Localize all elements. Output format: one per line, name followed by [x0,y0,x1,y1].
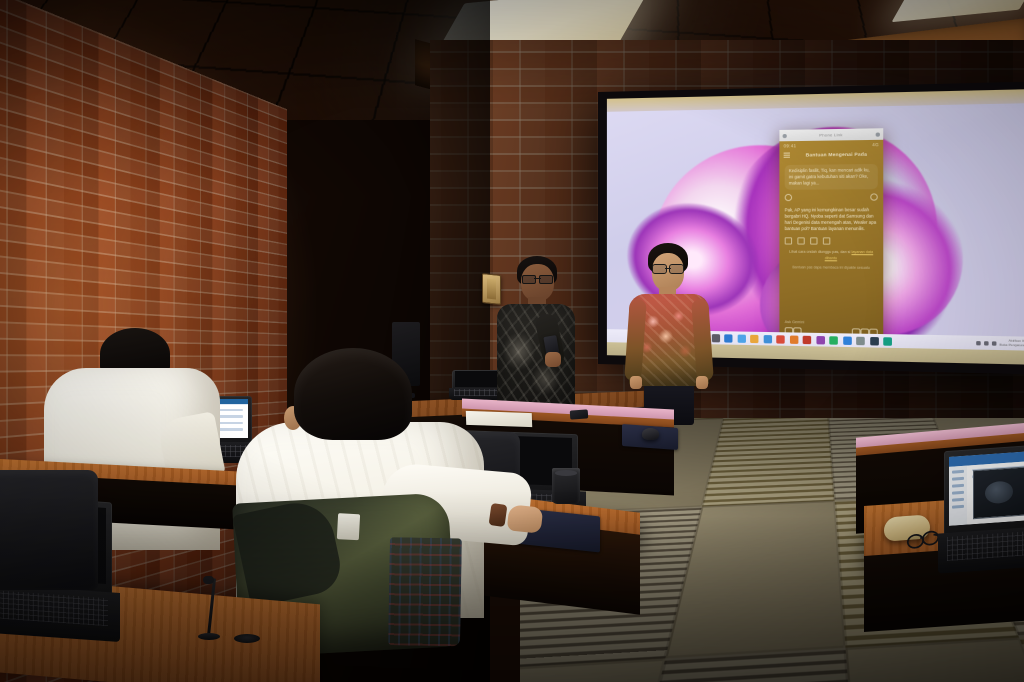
battery-icon[interactable] [992,341,997,345]
disclaimer-text: Lihat cara ondah diunggu pas, dan si [789,250,850,254]
laptop-keyboard[interactable] [947,531,1024,561]
disclaimer-note: Lihat cara ondah diunggu pas, dan si lay… [785,250,878,261]
presenter-red-batik [626,243,712,423]
eyeglasses-icon [652,264,684,272]
laptop-base [0,583,120,642]
activate-windows-notice: Aktifkan Windows Buka Pengaturan untuk [999,339,1024,348]
taskbar-icon-7[interactable] [790,335,798,343]
window-close-icon[interactable] [876,132,880,136]
chat-message-assistant: Pak, AP yang ini kemungkinan besar sudah… [785,207,878,233]
app-title: Bantuan Mengenai Pada [794,151,879,157]
assistant-action-icons[interactable] [779,232,883,245]
presenter-b-hand-right [696,376,708,389]
microphone-gooseneck [207,578,216,636]
taskbar-icon-13[interactable] [870,336,879,345]
eyeglasses-icon [522,275,553,282]
window-menu-icon[interactable] [783,133,787,137]
taskbar-icon-12[interactable] [856,336,865,345]
taskbar-icon-2[interactable] [724,334,732,342]
copy-icon[interactable] [785,238,792,245]
taskbar-icon-9[interactable] [816,335,825,343]
laptop-right-desk[interactable] [944,445,1024,571]
jacket-care-tag [337,513,360,540]
computer-mouse-podium[interactable] [642,428,659,440]
laptop-screen-ui [949,451,1024,526]
office-chair-foreground[interactable] [0,470,98,590]
status-network: 4G [872,142,879,147]
thumbs-up-icon[interactable] [785,194,792,201]
chat-message-user: Kedisiplin fasilit, Tiq, kan mencari adi… [785,164,878,190]
message-action-icons[interactable] [779,189,883,201]
taskbar-icon-4[interactable] [750,334,758,342]
phone-link-window[interactable]: Phone Link 09:41 4G Bantuan Mengenai Pad… [779,128,883,337]
wristwatch [489,503,508,527]
app-header: Bantuan Mengenai Pada [779,147,883,160]
refresh-icon[interactable] [810,238,817,245]
microphone-base [198,633,220,640]
taskbar-icon-3[interactable] [737,334,745,342]
disclaimer-note-2: Bantuan pas dapa membaca ini dipakte ses… [785,265,878,270]
smartphone-on-desk[interactable] [570,409,589,419]
participant-front-hair [294,348,412,440]
wifi-icon[interactable] [976,341,980,345]
laptop-base [938,526,1024,574]
hamburger-menu-icon[interactable] [784,153,790,158]
system-tray[interactable]: Aktifkan Windows Buka Pengaturan untuk [976,339,1024,349]
taskbar-icon-1[interactable] [711,334,719,342]
laptop-lid [944,445,1024,535]
presentation-room-photo: Phone Link 09:41 4G Bantuan Mengenai Pad… [0,0,1024,682]
share-icon[interactable] [797,238,804,245]
laptop-keyboard[interactable] [0,589,108,626]
volume-icon[interactable] [984,341,989,345]
app-sidebar [949,465,967,526]
taskbar-icon-6[interactable] [776,335,784,343]
gooseneck-microphone-front[interactable] [198,570,222,640]
taskbar-icon-5[interactable] [763,335,771,343]
taskbar-icon-11[interactable] [843,336,852,345]
participant-front-hand [507,504,544,533]
taskbar-icon-10[interactable] [829,336,838,344]
jacket-lapel [232,496,345,608]
microphone-capsule [203,576,214,584]
chair-backrest [0,470,98,590]
app-document-preview [973,466,1024,519]
desk-cable-grommet [234,634,260,643]
taskbar-icon-14[interactable] [883,337,892,346]
laptop-screen [949,451,1024,526]
window-title: Phone Link [790,132,872,139]
composer-placeholder: Ask Gemini [785,320,878,326]
presenter-b-hand-left [630,376,642,389]
presenter-a-hand [545,352,561,367]
speaker-icon[interactable] [870,193,878,200]
black-mug-center [552,468,580,504]
more-icon[interactable] [823,238,830,245]
status-clock: 09:41 [784,143,797,148]
jacket-plaid-lining [388,537,462,646]
taskbar-icon-8[interactable] [803,335,811,343]
phone-mirror-body: 09:41 4G Bantuan Mengenai Pada Kedisipli… [779,140,883,337]
